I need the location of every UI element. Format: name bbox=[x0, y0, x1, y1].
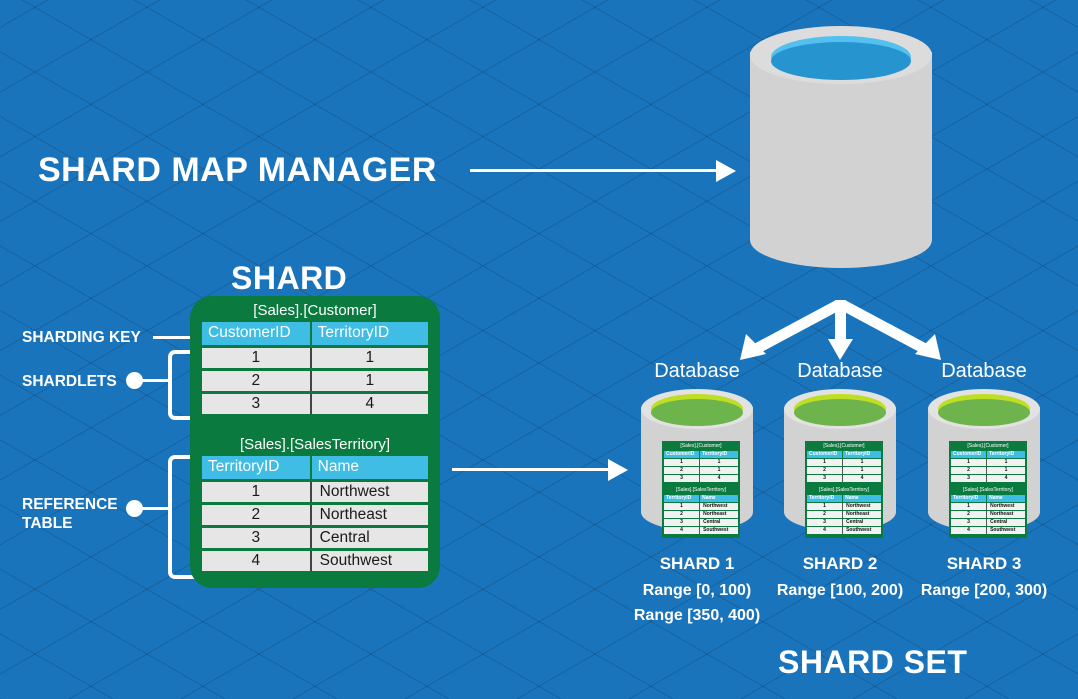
column-header-name: Name bbox=[312, 456, 428, 479]
table-header-row: CustomerID TerritoryID bbox=[951, 451, 1025, 458]
mini-salesterritory-table: TerritoryID Name 1 Northwest 2 Northeast… bbox=[807, 494, 881, 535]
cell: Southwest bbox=[843, 527, 881, 534]
column-header-territoryid: TerritoryID bbox=[987, 451, 1025, 458]
cell: Northeast bbox=[843, 511, 881, 518]
mini-salesterritory-caption: [Sales].[SalesTerritory] bbox=[951, 487, 1025, 494]
table-header-row: CustomerID TerritoryID bbox=[807, 451, 881, 458]
table-row: 3 4 bbox=[202, 394, 428, 414]
cell-name: Central bbox=[312, 528, 428, 548]
cylinder-fluid bbox=[938, 399, 1030, 426]
table-header-row: CustomerID TerritoryID bbox=[664, 451, 738, 458]
cell: Northwest bbox=[987, 503, 1025, 510]
cell: Southwest bbox=[987, 527, 1025, 534]
cell: 1 bbox=[987, 459, 1025, 466]
table-row: 3 4 bbox=[807, 475, 881, 482]
table-row: 3 Central bbox=[202, 528, 428, 548]
table-row: 1 Northwest bbox=[807, 503, 881, 510]
shard-1-range-2: Range [350, 400) bbox=[600, 605, 794, 627]
cell: 1 bbox=[951, 459, 987, 466]
mini-customer-caption: [Sales].[Customer] bbox=[664, 443, 738, 450]
diagram-canvas: SHARD MAP MANAGER SHARD SHARD SET SHARD bbox=[0, 0, 1078, 699]
cell: Southwest bbox=[700, 527, 738, 534]
mini-salesterritory-caption: [Sales].[SalesTerritory] bbox=[664, 487, 738, 494]
mini-salesterritory-table: TerritoryID Name 1 Northwest 2 Northeast… bbox=[664, 494, 738, 535]
table-row: 4 Southwest bbox=[664, 527, 738, 534]
customer-table-caption: [Sales].[Customer] bbox=[202, 302, 428, 319]
cell-territoryid: 1 bbox=[312, 348, 428, 368]
table-row: 2 1 bbox=[951, 467, 1025, 474]
cell: 3 bbox=[664, 475, 700, 482]
table-row: 1 1 bbox=[951, 459, 1025, 466]
column-header-name: Name bbox=[843, 495, 881, 502]
table-row: 2 1 bbox=[664, 467, 738, 474]
label-sharding-key: SHARDING KEY bbox=[22, 328, 141, 347]
cell: 2 bbox=[664, 467, 700, 474]
column-header-name: Name bbox=[987, 495, 1025, 502]
table-header-row: TerritoryID Name bbox=[951, 495, 1025, 502]
shard-1-database-icon: [Sales].[Customer] CustomerID TerritoryI… bbox=[641, 389, 753, 547]
column-header-name: Name bbox=[700, 495, 738, 502]
arrow-shaft bbox=[470, 169, 720, 172]
column-header-customerid: CustomerID bbox=[664, 451, 700, 458]
table-row: 3 Central bbox=[807, 519, 881, 526]
cell: 1 bbox=[700, 459, 738, 466]
shard-1-mini-tables: [Sales].[Customer] CustomerID TerritoryI… bbox=[662, 441, 740, 538]
mini-customer-caption: [Sales].[Customer] bbox=[951, 443, 1025, 450]
cell: 4 bbox=[664, 527, 700, 534]
arrow-manager-to-database bbox=[470, 160, 740, 182]
arrow-fan-out-icon bbox=[700, 296, 1000, 366]
column-header-customerid: CustomerID bbox=[202, 322, 312, 345]
shard-3-database-icon: [Sales].[Customer] CustomerID TerritoryI… bbox=[928, 389, 1040, 547]
cell: 4 bbox=[843, 475, 881, 482]
cell: 3 bbox=[807, 519, 843, 526]
cell: 1 bbox=[807, 459, 843, 466]
column-header-territoryid: TerritoryID bbox=[202, 456, 312, 479]
column-header-territoryid: TerritoryID bbox=[843, 451, 881, 458]
cell: 1 bbox=[807, 503, 843, 510]
table-row: 2 1 bbox=[807, 467, 881, 474]
cell: Central bbox=[700, 519, 738, 526]
table-header-row: TerritoryID Name bbox=[807, 495, 881, 502]
cell-name: Northeast bbox=[312, 505, 428, 525]
table-row: 1 Northwest bbox=[951, 503, 1025, 510]
cell: 1 bbox=[843, 467, 881, 474]
mini-customer-table: CustomerID TerritoryID 1 1 2 1 3 4 bbox=[951, 450, 1025, 483]
cell: Central bbox=[987, 519, 1025, 526]
cell-territoryid: 1 bbox=[202, 482, 312, 502]
cylinder-body bbox=[750, 52, 932, 268]
cell: 1 bbox=[664, 459, 700, 466]
cell: 3 bbox=[951, 519, 987, 526]
cell: 1 bbox=[951, 503, 987, 510]
cell-territoryid: 4 bbox=[202, 551, 312, 571]
table-row: 1 Northwest bbox=[202, 482, 428, 502]
cell-customerid: 2 bbox=[202, 371, 312, 391]
cell: Northwest bbox=[700, 503, 738, 510]
column-header-customerid: CustomerID bbox=[951, 451, 987, 458]
shard-3-range-1: Range [200, 300) bbox=[887, 580, 1078, 602]
cell-name: Southwest bbox=[312, 551, 428, 571]
cylinder-fluid bbox=[794, 399, 886, 426]
cylinder-fluid bbox=[771, 42, 911, 80]
cell: 2 bbox=[664, 511, 700, 518]
table-header-row: TerritoryID Name bbox=[664, 495, 738, 502]
cell: 4 bbox=[807, 527, 843, 534]
cell-territoryid: 4 bbox=[312, 394, 428, 414]
cell: 4 bbox=[951, 527, 987, 534]
cell: 2 bbox=[807, 511, 843, 518]
shard-panel: [Sales].[Customer] CustomerID TerritoryI… bbox=[190, 296, 440, 588]
cell-territoryid: 1 bbox=[312, 371, 428, 391]
shard-3-name: SHARD 3 bbox=[887, 554, 1078, 574]
arrow-shard-to-shard-set bbox=[452, 459, 632, 481]
table-row: 1 1 bbox=[807, 459, 881, 466]
arrow-shaft bbox=[452, 468, 612, 471]
table-row: 4 Southwest bbox=[202, 551, 428, 571]
table-row: 4 Southwest bbox=[807, 527, 881, 534]
salesterritory-table-block: [Sales].[SalesTerritory] TerritoryID Nam… bbox=[202, 436, 428, 574]
label-shardlets: SHARDLETS bbox=[22, 372, 117, 391]
cell-name: Northwest bbox=[312, 482, 428, 502]
table-row: 1 1 bbox=[664, 459, 738, 466]
table-row: 4 Southwest bbox=[951, 527, 1025, 534]
table-row: 2 Northeast bbox=[664, 511, 738, 518]
column-header-territoryid: TerritoryID bbox=[951, 495, 987, 502]
cell: 1 bbox=[843, 459, 881, 466]
shard-3-mini-tables: [Sales].[Customer] CustomerID TerritoryI… bbox=[949, 441, 1027, 538]
shard-3-database-caption: Database bbox=[887, 360, 1078, 383]
table-row: 1 Northwest bbox=[664, 503, 738, 510]
label-reference-table-line1: REFERENCE bbox=[22, 495, 118, 514]
table-header-row: TerritoryID Name bbox=[202, 456, 428, 479]
cell: 2 bbox=[807, 467, 843, 474]
shard-2-mini-tables: [Sales].[Customer] CustomerID TerritoryI… bbox=[805, 441, 883, 538]
arrow-right-icon bbox=[716, 160, 736, 182]
cell: 3 bbox=[807, 475, 843, 482]
cylinder-fluid bbox=[651, 399, 743, 426]
cell: 1 bbox=[987, 467, 1025, 474]
table-row: 2 1 bbox=[202, 371, 428, 391]
cell: 1 bbox=[664, 503, 700, 510]
column-header-territoryid: TerritoryID bbox=[664, 495, 700, 502]
shard-3-group: Database [Sales].[Customer] CustomerID T… bbox=[887, 360, 1078, 383]
cell-territoryid: 2 bbox=[202, 505, 312, 525]
cell-customerid: 3 bbox=[202, 394, 312, 414]
cell: 3 bbox=[951, 475, 987, 482]
section-title-shard: SHARD bbox=[231, 260, 347, 297]
cell: 3 bbox=[664, 519, 700, 526]
cell: Northeast bbox=[700, 511, 738, 518]
table-row: 1 1 bbox=[202, 348, 428, 368]
connector-reference-table bbox=[141, 507, 171, 510]
mini-salesterritory-table: TerritoryID Name 1 Northwest 2 Northeast… bbox=[951, 494, 1025, 535]
mini-customer-caption: [Sales].[Customer] bbox=[807, 443, 881, 450]
mini-customer-table: CustomerID TerritoryID 1 1 2 1 3 4 bbox=[664, 450, 738, 483]
mini-customer-table: CustomerID TerritoryID 1 1 2 1 3 4 bbox=[807, 450, 881, 483]
customer-table-block: [Sales].[Customer] CustomerID TerritoryI… bbox=[202, 302, 428, 417]
table-row: 3 4 bbox=[951, 475, 1025, 482]
table-row: 2 Northeast bbox=[202, 505, 428, 525]
table-header-row: CustomerID TerritoryID bbox=[202, 322, 428, 345]
table-row: 2 Northeast bbox=[807, 511, 881, 518]
cell: 4 bbox=[700, 475, 738, 482]
cell: 2 bbox=[951, 467, 987, 474]
cell-territoryid: 3 bbox=[202, 528, 312, 548]
cell: Central bbox=[843, 519, 881, 526]
connector-shardlets bbox=[141, 379, 171, 382]
column-header-customerid: CustomerID bbox=[807, 451, 843, 458]
column-header-territoryid: TerritoryID bbox=[312, 322, 428, 345]
arrow-right-icon bbox=[608, 459, 628, 481]
customer-table: CustomerID TerritoryID 1 1 2 1 3 bbox=[202, 319, 428, 417]
column-header-territoryid: TerritoryID bbox=[700, 451, 738, 458]
cell-customerid: 1 bbox=[202, 348, 312, 368]
cell: 1 bbox=[700, 467, 738, 474]
label-reference-table-line2: TABLE bbox=[22, 514, 118, 533]
shard-map-manager-database-icon bbox=[750, 26, 932, 294]
table-row: 2 Northeast bbox=[951, 511, 1025, 518]
table-row: 3 4 bbox=[664, 475, 738, 482]
cell: 2 bbox=[951, 511, 987, 518]
shard-2-database-icon: [Sales].[Customer] CustomerID TerritoryI… bbox=[784, 389, 896, 547]
table-row: 3 Central bbox=[664, 519, 738, 526]
cell: Northwest bbox=[843, 503, 881, 510]
cell: 4 bbox=[987, 475, 1025, 482]
section-title-shard-set: SHARD SET bbox=[778, 644, 967, 681]
label-reference-table: REFERENCE TABLE bbox=[22, 495, 118, 533]
cell: Northeast bbox=[987, 511, 1025, 518]
salesterritory-table: TerritoryID Name 1 Northwest 2 Northeast… bbox=[202, 453, 428, 574]
mini-salesterritory-caption: [Sales].[SalesTerritory] bbox=[807, 487, 881, 494]
salesterritory-table-caption: [Sales].[SalesTerritory] bbox=[202, 436, 428, 453]
table-row: 3 Central bbox=[951, 519, 1025, 526]
page-title-shard-map-manager: SHARD MAP MANAGER bbox=[38, 151, 437, 190]
column-header-territoryid: TerritoryID bbox=[807, 495, 843, 502]
